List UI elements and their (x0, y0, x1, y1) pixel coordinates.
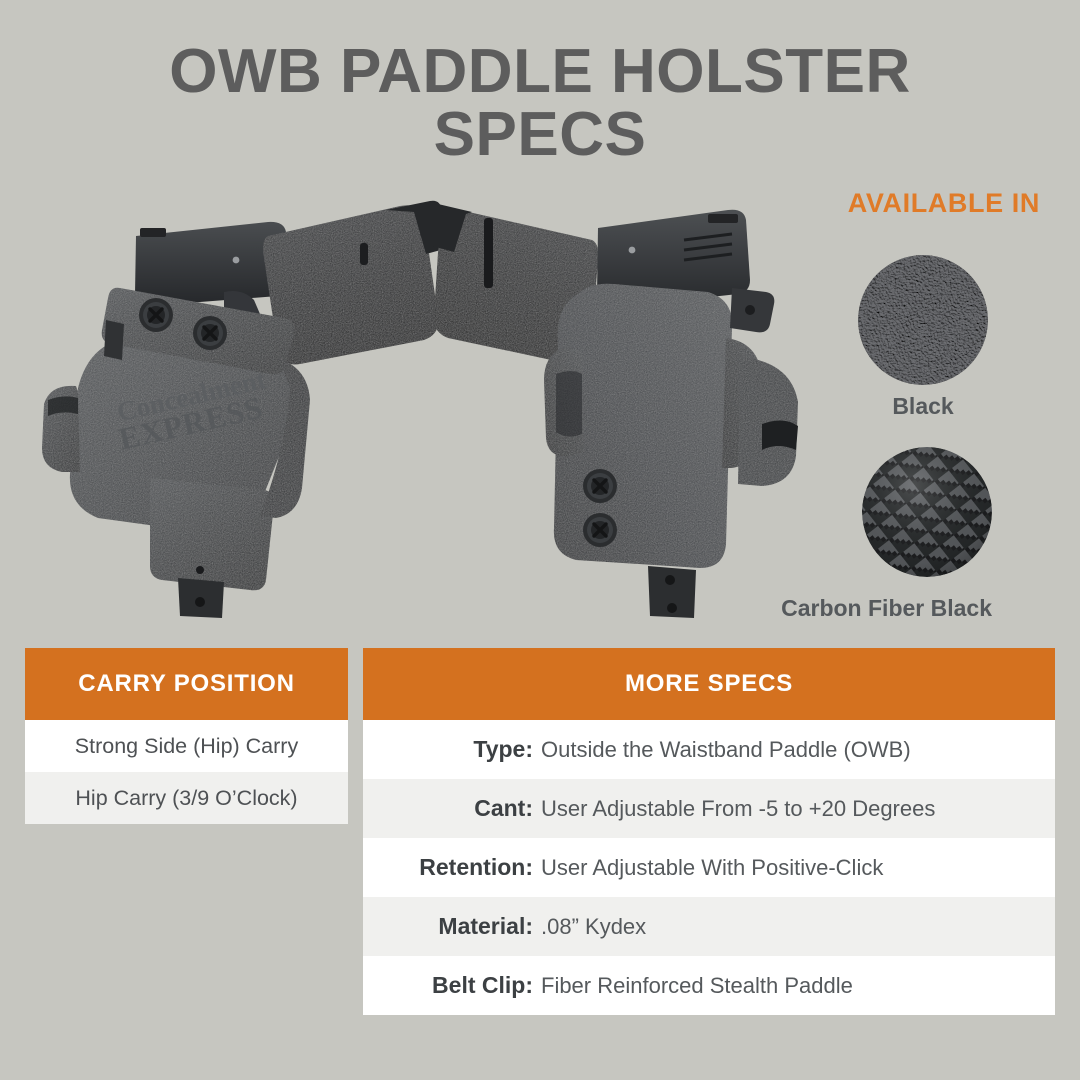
rear-sight (140, 228, 166, 237)
screw-upper (583, 469, 617, 503)
page-title-line1: OWB PADDLE HOLSTER (169, 37, 911, 106)
spec-value: .08” Kydex (541, 914, 646, 940)
tab-hole (195, 597, 205, 607)
screw-upper (139, 298, 173, 332)
table-row: Cant: User Adjustable From -5 to +20 Deg… (363, 779, 1055, 838)
carry-position-table: CARRY POSITION Strong Side (Hip) Carry H… (25, 648, 348, 824)
table-row: Material: .08” Kydex (363, 897, 1055, 956)
carbon-fiber-swatch[interactable] (862, 447, 992, 577)
swatch-carbon-fiber-label: Carbon Fiber Black (652, 595, 992, 622)
spec-value: User Adjustable From -5 to +20 Degrees (541, 796, 935, 822)
screw-lower (583, 513, 617, 547)
grip-slot (484, 218, 493, 288)
carry-position-value: Strong Side (Hip) Carry (75, 734, 298, 759)
black-texture-svg (858, 255, 988, 385)
spec-value: Outside the Waistband Paddle (OWB) (541, 737, 911, 763)
infographic-canvas: OWB PADDLE HOLSTER SPECS (0, 0, 1080, 1080)
holster-front-svg: Concealment EXPRESS (28, 188, 448, 618)
spec-label: Cant: (363, 795, 541, 822)
table-row: Belt Clip: Fiber Reinforced Stealth Padd… (363, 956, 1055, 1015)
tab-hole-upper (196, 566, 204, 574)
spec-value: User Adjustable With Positive-Click (541, 855, 883, 881)
black-texture-swatch[interactable] (858, 255, 988, 385)
spec-label: Retention: (363, 854, 541, 881)
carbon-fiber-svg (862, 447, 992, 577)
guard-inner (556, 371, 582, 437)
spec-value: Fiber Reinforced Stealth Paddle (541, 973, 853, 999)
tab-hole-upper (665, 575, 675, 585)
available-in-section: AVAILABLE IN (700, 188, 1040, 219)
slide-pin (629, 247, 636, 254)
holster-front-view: Concealment EXPRESS (28, 188, 448, 618)
carry-position-value: Hip Carry (3/9 O’Clock) (75, 786, 297, 811)
page-title-line2: SPECS (0, 103, 1080, 166)
carry-position-header: CARRY POSITION (25, 648, 348, 720)
table-row: Hip Carry (3/9 O’Clock) (25, 772, 348, 824)
swatch-black[interactable]: Black (858, 255, 988, 420)
swatch-black-label: Black (858, 393, 988, 420)
table-row: Retention: User Adjustable With Positive… (363, 838, 1055, 897)
holster-back-svg (432, 188, 832, 618)
holster-back-view (432, 188, 832, 618)
spec-label: Type: (363, 736, 541, 763)
light-shroud (150, 478, 274, 590)
paddle-hook (762, 420, 798, 450)
slide-pin (233, 257, 240, 264)
spec-label: Material: (363, 913, 541, 940)
spec-label: Belt Clip: (363, 972, 541, 999)
strap-left-tab (104, 320, 124, 360)
grip-slot (360, 243, 368, 265)
more-specs-header: MORE SPECS (363, 648, 1055, 720)
page-title: OWB PADDLE HOLSTER SPECS (0, 40, 1080, 166)
table-row: Type: Outside the Waistband Paddle (OWB) (363, 720, 1055, 779)
table-row: Strong Side (Hip) Carry (25, 720, 348, 772)
more-specs-table: MORE SPECS Type: Outside the Waistband P… (363, 648, 1055, 1015)
swatch-carbon-fiber[interactable]: Carbon Fiber Black (862, 447, 992, 577)
available-in-heading: AVAILABLE IN (700, 188, 1040, 219)
light-screw (745, 305, 755, 315)
screw-lower (193, 316, 227, 350)
